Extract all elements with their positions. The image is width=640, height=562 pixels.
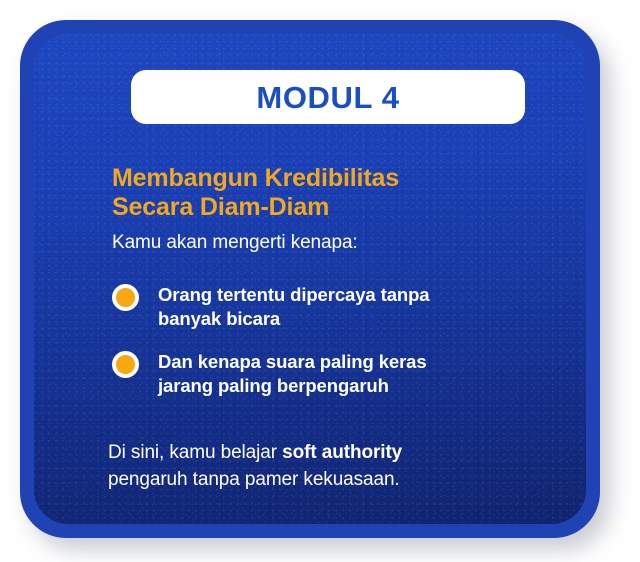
benefit-list: Orang tertentu dipercaya tanpa banyak bi…	[112, 282, 532, 417]
module-badge-label: MODUL 4	[256, 82, 399, 113]
bullet-dot-icon	[112, 351, 139, 378]
list-item-line-2: jarang paling berpengaruh	[158, 375, 389, 396]
module-card-content: MODUL 4 Membangun Kredibilitas Secara Di…	[20, 20, 600, 538]
list-item-text: Dan kenapa suara paling keras jarang pal…	[158, 349, 427, 397]
list-item-line-1: Orang tertentu dipercaya tanpa	[158, 284, 429, 305]
card-headline-line-1: Membangun Kredibilitas	[112, 164, 532, 193]
module-badge: MODUL 4	[131, 70, 525, 124]
list-item: Orang tertentu dipercaya tanpa banyak bi…	[112, 282, 532, 330]
footer-note-lead: Di sini, kamu belajar	[108, 442, 282, 463]
module-card-frame: MODUL 4 Membangun Kredibilitas Secara Di…	[20, 20, 600, 538]
card-footer-note: Di sini, kamu belajar soft authority pen…	[108, 440, 528, 494]
card-headline: Membangun Kredibilitas Secara Diam-Diam	[112, 164, 532, 223]
card-headline-line-2: Secara Diam-Diam	[112, 193, 532, 222]
card-subtitle: Kamu akan mengerti kenapa:	[112, 231, 358, 255]
list-item-line-1: Dan kenapa suara paling keras	[158, 351, 427, 372]
footer-note-line-2: pengaruh tanpa pamer kekuasaan.	[108, 469, 400, 490]
list-item-line-2: banyak bicara	[158, 308, 280, 329]
list-item-text: Orang tertentu dipercaya tanpa banyak bi…	[158, 282, 429, 330]
bullet-dot-icon	[112, 284, 139, 311]
list-item: Dan kenapa suara paling keras jarang pal…	[112, 349, 532, 397]
promo-card-stage: MODUL 4 Membangun Kredibilitas Secara Di…	[0, 0, 640, 562]
footer-note-emphasis: soft authority	[282, 442, 402, 463]
